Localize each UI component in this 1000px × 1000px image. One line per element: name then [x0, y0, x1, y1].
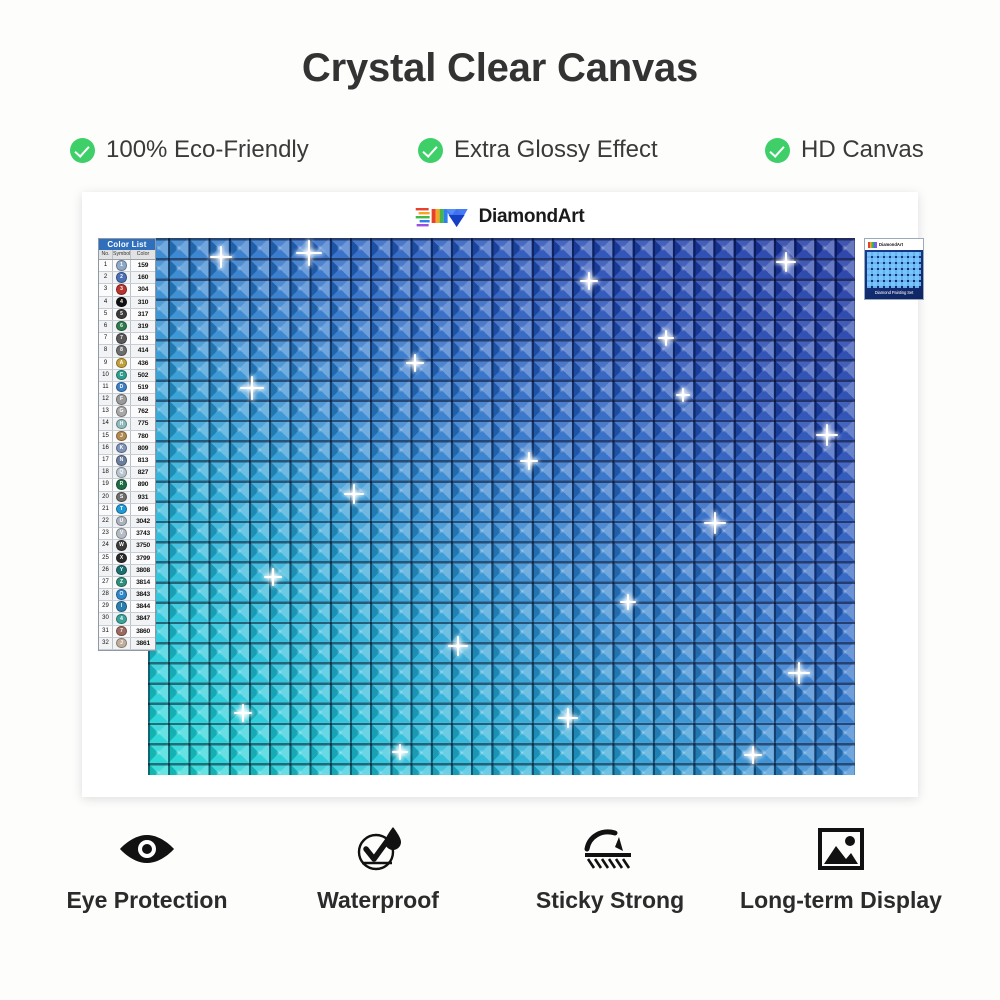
color-row-number: 24 — [99, 540, 113, 551]
brand-logo: DiamondArt — [416, 204, 585, 230]
color-row-number: 23 — [99, 528, 113, 539]
color-list-row: 26Y3808 — [99, 565, 155, 577]
diamond-mosaic-artwork — [148, 238, 855, 775]
color-row-number: 8 — [99, 345, 113, 356]
color-row-code: 317 — [131, 309, 155, 320]
color-row-code: 996 — [131, 504, 155, 515]
color-row-code: 413 — [131, 333, 155, 344]
color-row-symbol: O — [113, 589, 131, 600]
symbol-badge-icon: T — [116, 504, 126, 514]
color-list-row: 29I3844 — [99, 601, 155, 613]
color-list-row: 3043847 — [99, 613, 155, 625]
product-thumbnail-drill-grid — [867, 252, 921, 288]
column-header-symbol: Symbol — [113, 250, 131, 259]
color-list-row: 9A436 — [99, 358, 155, 370]
color-row-symbol: V — [113, 528, 131, 539]
color-row-number: 6 — [99, 321, 113, 332]
color-row-code: 3847 — [131, 613, 155, 624]
color-list-row: 13G762 — [99, 406, 155, 418]
color-row-number: 1 — [99, 260, 113, 271]
color-row-symbol: K — [113, 443, 131, 454]
color-list-row: 27Z3814 — [99, 577, 155, 589]
color-row-code: 502 — [131, 370, 155, 381]
color-list-row: 14H775 — [99, 418, 155, 430]
page-title: Crystal Clear Canvas — [0, 46, 1000, 91]
color-list-title: Color List — [99, 239, 155, 250]
feature-list: 100% Eco-Friendly Extra Glossy Effect HD… — [0, 130, 1000, 170]
symbol-badge-icon: U — [116, 516, 126, 526]
color-row-number: 11 — [99, 382, 113, 393]
product-thumbnail-caption: Diamond Painting Set — [865, 290, 923, 295]
color-row-code: 827 — [131, 467, 155, 478]
color-list-row: 17N813 — [99, 455, 155, 467]
color-row-code: 809 — [131, 443, 155, 454]
color-list-row: 3173860 — [99, 626, 155, 638]
color-list-row: 21T996 — [99, 504, 155, 516]
color-row-number: 13 — [99, 406, 113, 417]
symbol-badge-icon: A — [116, 358, 126, 368]
brand-name: DiamondArt — [479, 206, 585, 228]
benefit-item-waterproof: Waterproof — [253, 825, 503, 914]
color-row-symbol: C — [113, 370, 131, 381]
color-row-symbol: X — [113, 553, 131, 564]
color-row-number: 26 — [99, 565, 113, 576]
symbol-badge-icon: Y — [116, 565, 126, 575]
color-row-symbol: 8 — [113, 345, 131, 356]
color-row-number: 27 — [99, 577, 113, 588]
feature-item-glossy-effect: Extra Glossy Effect — [418, 130, 658, 170]
color-row-code: 890 — [131, 479, 155, 490]
color-row-symbol: Z — [113, 577, 131, 588]
color-list-row: 10C502 — [99, 370, 155, 382]
color-row-number: 3 — [99, 284, 113, 295]
color-row-symbol: T — [113, 504, 131, 515]
color-row-number: 16 — [99, 443, 113, 454]
color-row-code: 3861 — [131, 638, 155, 649]
feature-label: Extra Glossy Effect — [454, 136, 658, 164]
mosaic-grid-lines — [148, 238, 855, 775]
color-list-row: 24W3750 — [99, 540, 155, 552]
symbol-badge-icon: K — [116, 443, 126, 453]
color-row-code: 3860 — [131, 626, 155, 637]
color-list-row: 12F648 — [99, 394, 155, 406]
color-row-number: 19 — [99, 479, 113, 490]
adhesive-peel-icon — [485, 825, 735, 873]
color-row-code: 3799 — [131, 553, 155, 564]
color-list-row: 66319 — [99, 321, 155, 333]
benefit-item-long-term-display: Long-term Display — [716, 825, 966, 914]
symbol-badge-icon: C — [116, 370, 126, 380]
symbol-badge-icon: Z — [116, 577, 126, 587]
symbol-badge-icon: J — [116, 431, 126, 441]
color-row-code: 319 — [131, 321, 155, 332]
color-list-row: 77413 — [99, 333, 155, 345]
symbol-badge-icon: F — [116, 394, 126, 404]
color-row-number: 28 — [99, 589, 113, 600]
color-row-symbol: J — [113, 431, 131, 442]
symbol-badge-icon: 7 — [116, 626, 126, 636]
color-row-code: 519 — [131, 382, 155, 393]
symbol-badge-icon: 3 — [116, 284, 126, 294]
symbol-badge-icon: X — [116, 553, 126, 563]
diamond-logo-icon — [868, 242, 877, 248]
product-thumbnail-header: DiamondArt — [865, 239, 923, 250]
symbol-badge-icon: S — [116, 492, 126, 502]
symbol-badge-icon: 6 — [116, 321, 126, 331]
symbol-badge-icon: N — [116, 455, 126, 465]
symbol-badge-icon: G — [116, 406, 126, 416]
symbol-badge-icon: H — [116, 419, 126, 429]
check-circle-icon — [765, 138, 790, 163]
symbol-badge-icon: I — [116, 601, 126, 611]
color-row-symbol: 4 — [113, 613, 131, 624]
color-row-symbol: A — [113, 358, 131, 369]
color-row-code: 414 — [131, 345, 155, 356]
color-row-number: 15 — [99, 431, 113, 442]
color-list-row: 11159 — [99, 260, 155, 272]
benefit-list: Eye Protection Waterproof — [0, 825, 1000, 935]
color-row-number: 2 — [99, 272, 113, 283]
symbol-badge-icon: D — [116, 382, 126, 392]
symbol-badge-icon: 7 — [116, 333, 126, 343]
color-row-symbol: J — [113, 638, 131, 649]
symbol-badge-icon: R — [116, 479, 126, 489]
feature-label: 100% Eco-Friendly — [106, 136, 309, 164]
color-list-row: 15J780 — [99, 431, 155, 443]
color-row-code: 931 — [131, 492, 155, 503]
eye-icon — [22, 825, 272, 873]
diamond-logo-icon — [416, 204, 472, 230]
color-row-symbol: 3 — [113, 284, 131, 295]
benefit-label: Long-term Display — [716, 887, 966, 914]
feature-item-eco-friendly: 100% Eco-Friendly — [70, 130, 309, 170]
color-row-symbol: U — [113, 516, 131, 527]
color-list-row: 33304 — [99, 284, 155, 296]
symbol-badge-icon: V — [116, 528, 126, 538]
symbol-badge-icon: W — [116, 540, 126, 550]
color-row-symbol: 7 — [113, 333, 131, 344]
color-list-row: 32J3861 — [99, 638, 155, 650]
check-circle-icon — [70, 138, 95, 163]
color-row-symbol: D — [113, 382, 131, 393]
color-row-number: 4 — [99, 297, 113, 308]
product-thumbnail[interactable]: DiamondArt Diamond Painting Set — [864, 238, 924, 300]
color-list-row: 22U3042 — [99, 516, 155, 528]
color-row-symbol: 7 — [113, 626, 131, 637]
color-row-symbol: S — [113, 492, 131, 503]
color-list-row: 44310 — [99, 297, 155, 309]
color-row-number: 12 — [99, 394, 113, 405]
color-list-row: 16K809 — [99, 443, 155, 455]
color-list-row: 20S931 — [99, 492, 155, 504]
symbol-badge-icon: O — [116, 589, 126, 599]
color-list-row: 18Q827 — [99, 467, 155, 479]
color-row-symbol: N — [113, 455, 131, 466]
color-row-code: 775 — [131, 418, 155, 429]
symbol-badge-icon: 5 — [116, 309, 126, 319]
color-row-symbol: F — [113, 394, 131, 405]
color-row-symbol: 6 — [113, 321, 131, 332]
color-list-header-row: No. Symbol Color — [99, 250, 155, 260]
symbol-badge-icon: 4 — [116, 297, 126, 307]
color-row-symbol: H — [113, 418, 131, 429]
color-row-symbol: Q — [113, 467, 131, 478]
color-list-body: 1115922160333044431055317663197741388414… — [99, 260, 155, 650]
color-row-code: 3814 — [131, 577, 155, 588]
color-row-number: 17 — [99, 455, 113, 466]
color-row-code: 159 — [131, 260, 155, 271]
color-row-code: 813 — [131, 455, 155, 466]
benefit-label: Eye Protection — [22, 887, 272, 914]
color-row-code: 780 — [131, 431, 155, 442]
color-row-code: 3042 — [131, 516, 155, 527]
color-row-symbol: Y — [113, 565, 131, 576]
product-thumbnail-brand: DiamondArt — [879, 242, 903, 247]
symbol-badge-icon: 8 — [116, 345, 126, 355]
color-row-code: 3750 — [131, 540, 155, 551]
benefit-item-eye-protection: Eye Protection — [22, 825, 272, 914]
color-row-number: 31 — [99, 626, 113, 637]
color-row-number: 18 — [99, 467, 113, 478]
water-drop-check-icon — [253, 825, 503, 873]
color-row-number: 14 — [99, 418, 113, 429]
color-row-number: 30 — [99, 613, 113, 624]
color-row-symbol: 4 — [113, 297, 131, 308]
color-list-table: Color List No. Symbol Color 111592216033… — [98, 238, 156, 651]
color-row-code: 436 — [131, 358, 155, 369]
image-mountain-icon — [716, 825, 966, 873]
color-row-symbol: 2 — [113, 272, 131, 283]
color-row-code: 3743 — [131, 528, 155, 539]
color-list-row: 28O3843 — [99, 589, 155, 601]
benefit-item-sticky-strong: Sticky Strong — [485, 825, 735, 914]
symbol-badge-icon: J — [116, 638, 126, 648]
color-row-code: 3844 — [131, 601, 155, 612]
color-row-symbol: R — [113, 479, 131, 490]
color-row-number: 9 — [99, 358, 113, 369]
color-row-number: 7 — [99, 333, 113, 344]
color-row-code: 3808 — [131, 565, 155, 576]
feature-label: HD Canvas — [801, 136, 924, 164]
color-row-code: 304 — [131, 284, 155, 295]
column-header-color: Color — [131, 250, 155, 259]
color-row-code: 310 — [131, 297, 155, 308]
feature-item-hd-canvas: HD Canvas — [765, 130, 924, 170]
color-row-number: 32 — [99, 638, 113, 649]
color-list-row: 55317 — [99, 309, 155, 321]
color-list-row: 88414 — [99, 345, 155, 357]
color-row-number: 29 — [99, 601, 113, 612]
color-row-symbol: G — [113, 406, 131, 417]
color-list-row: 23V3743 — [99, 528, 155, 540]
color-row-code: 160 — [131, 272, 155, 283]
color-row-number: 10 — [99, 370, 113, 381]
product-canvas-card: DiamondArt Color List No. Symbol — [82, 192, 918, 797]
color-row-symbol: W — [113, 540, 131, 551]
color-list-row: 22160 — [99, 272, 155, 284]
symbol-badge-icon: 1 — [116, 260, 126, 270]
color-row-number: 5 — [99, 309, 113, 320]
color-list-row: 25X3799 — [99, 553, 155, 565]
color-row-symbol: 1 — [113, 260, 131, 271]
symbol-badge-icon: Q — [116, 467, 126, 477]
symbol-badge-icon: 4 — [116, 614, 126, 624]
benefit-label: Waterproof — [253, 887, 503, 914]
color-row-symbol: I — [113, 601, 131, 612]
color-row-number: 21 — [99, 504, 113, 515]
column-header-no: No. — [99, 250, 113, 259]
color-row-code: 3843 — [131, 589, 155, 600]
color-row-code: 762 — [131, 406, 155, 417]
color-list-row: 19R890 — [99, 479, 155, 491]
symbol-badge-icon: 2 — [116, 272, 126, 282]
benefit-label: Sticky Strong — [485, 887, 735, 914]
check-circle-icon — [418, 138, 443, 163]
color-row-number: 20 — [99, 492, 113, 503]
color-list-row: 11D519 — [99, 382, 155, 394]
color-row-symbol: 5 — [113, 309, 131, 320]
color-row-number: 22 — [99, 516, 113, 527]
color-row-code: 648 — [131, 394, 155, 405]
color-row-number: 25 — [99, 553, 113, 564]
